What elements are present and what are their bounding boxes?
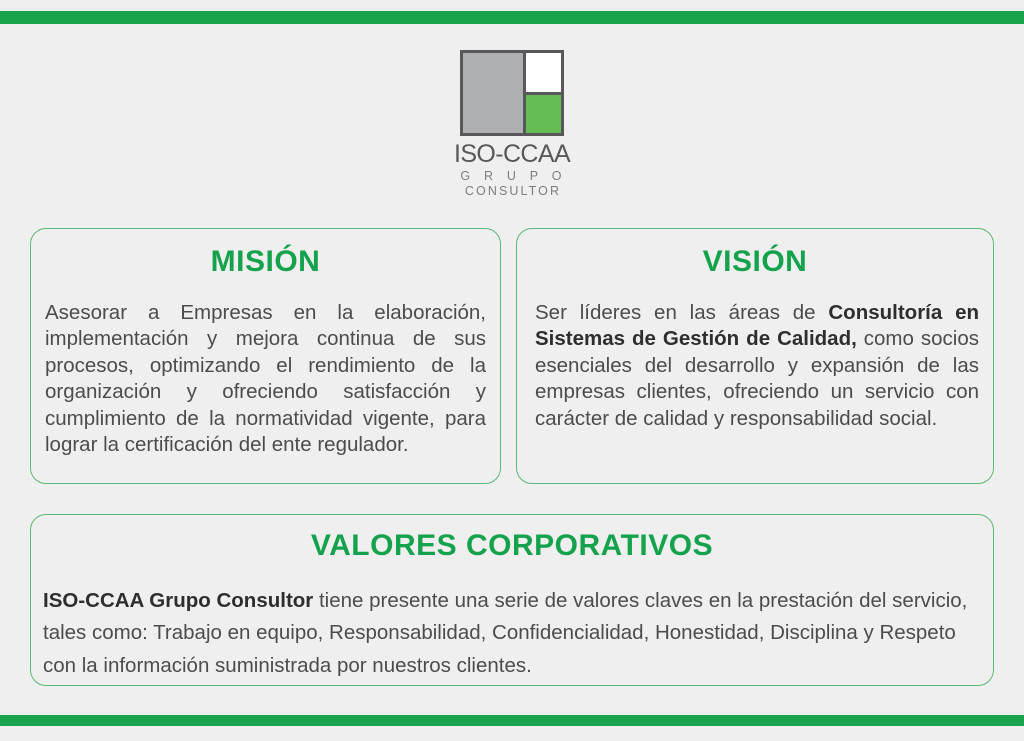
- mision-card: MISIÓN Asesorar a Empresas en la elabora…: [30, 228, 501, 484]
- logo-company-name: ISO-CCAA: [454, 142, 570, 168]
- logo-white-block: [526, 53, 561, 92]
- slide-canvas: ISO-CCAA G R U P O CONSULTOR MISIÓN Ases…: [0, 0, 1024, 741]
- top-accent-rule: [0, 11, 1024, 24]
- logo-tagline-grupo: G R U P O: [457, 169, 566, 183]
- valores-body-emphasis: ISO-CCAA Grupo Consultor: [43, 589, 313, 612]
- logo-green-block: [526, 95, 561, 134]
- valores-title: VALORES CORPORATIVOS: [31, 529, 993, 563]
- mision-title: MISIÓN: [31, 245, 500, 279]
- vision-body: Ser líderes en las áreas de Consultoría …: [535, 300, 979, 432]
- mision-body: Asesorar a Empresas en la elaboración, i…: [45, 300, 486, 459]
- valores-card: VALORES CORPORATIVOS ISO-CCAA Grupo Cons…: [30, 514, 994, 686]
- vision-title: VISIÓN: [517, 245, 993, 279]
- logo-right-column: [526, 53, 561, 133]
- logo-mark-icon: [460, 50, 564, 136]
- logo-tagline-consultor: CONSULTOR: [463, 184, 561, 198]
- valores-body: ISO-CCAA Grupo Consultor tiene presente …: [43, 585, 981, 682]
- company-logo: ISO-CCAA G R U P O CONSULTOR: [0, 50, 1024, 198]
- vision-card: VISIÓN Ser líderes en las áreas de Consu…: [516, 228, 994, 484]
- vision-body-lead: Ser líderes en las áreas de: [535, 301, 828, 324]
- logo-gray-block: [463, 53, 523, 133]
- bottom-accent-rule: [0, 715, 1024, 726]
